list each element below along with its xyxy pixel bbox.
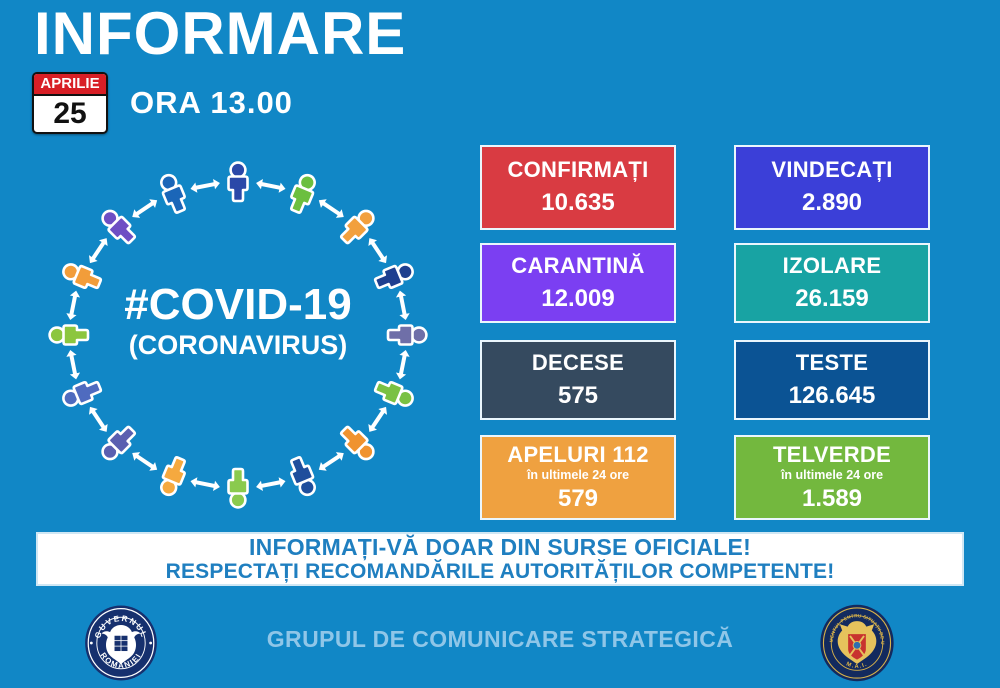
stat-value: 12.009 [541,286,614,312]
official-sources-banner: INFORMAȚI-VĂ DOAR DIN SURSE OFICIALE! RE… [36,532,964,586]
date-time-row: APRILIE 25 ORA 13.00 [32,72,293,134]
stat-value: 26.159 [795,286,868,312]
infographic-root: INFORMARE APRILIE 25 ORA 13.00 [0,0,1000,688]
people-ring-svg [38,155,438,515]
stat-label: DECESE [532,351,624,375]
stat-sublabel: în ultimele 24 ore [527,468,629,482]
stat-label: VINDECAȚI [771,158,892,182]
stat-teste: TESTE 126.645 [734,340,930,420]
stat-label: TELVERDE [773,443,891,467]
calendar-month: APRILIE [34,74,106,96]
page-title: INFORMARE [34,4,406,64]
stat-izolare: IZOLARE 26.159 [734,243,930,323]
banner-line-1: INFORMAȚI-VĂ DOAR DIN SURSE OFICIALE! [249,534,751,560]
calendar-icon: APRILIE 25 [32,72,108,134]
stat-value: 1.589 [802,486,862,512]
stat-label: TESTE [796,351,868,375]
stat-label: IZOLARE [783,254,882,278]
stats-grid: CONFIRMAȚI 10.635 VINDECAȚI 2.890 CARANT… [480,145,930,520]
stat-value: 575 [558,383,598,409]
stat-apeluri-112: APELURI 112 în ultimele 24 ore 579 [480,435,676,520]
stat-telverde: TELVERDE în ultimele 24 ore 1.589 [734,435,930,520]
stat-value: 126.645 [789,383,876,409]
stat-value: 579 [558,486,598,512]
time-label: ORA 13.00 [130,85,293,121]
dsu-mai-seal-icon: DEPARTAMENTUL PENTRU SITUAȚII DE URGENȚĂ… [818,604,896,682]
footer: GUVERNUL ROMÂNIEI GRUPUL DE COMUNICARE S… [0,598,1000,688]
stat-vindecati: VINDECAȚI 2.890 [734,145,930,230]
stat-confirmati: CONFIRMAȚI 10.635 [480,145,676,230]
people-circle-distancing-icon: #COVID-19 (CORONAVIRUS) [38,155,438,515]
stat-label: CONFIRMAȚI [507,158,648,182]
stat-label: APELURI 112 [507,443,648,467]
banner-line-2: RESPECTAȚI RECOMANDĂRILE AUTORITĂȚILOR C… [166,560,835,584]
calendar-day: 25 [34,96,106,132]
stat-label: CARANTINĂ [511,254,644,278]
stat-value: 10.635 [541,190,614,216]
stat-carantina: CARANTINĂ 12.009 [480,243,676,323]
stat-value: 2.890 [802,190,862,216]
stat-sublabel: în ultimele 24 ore [781,468,883,482]
stat-decese: DECESE 575 [480,340,676,420]
